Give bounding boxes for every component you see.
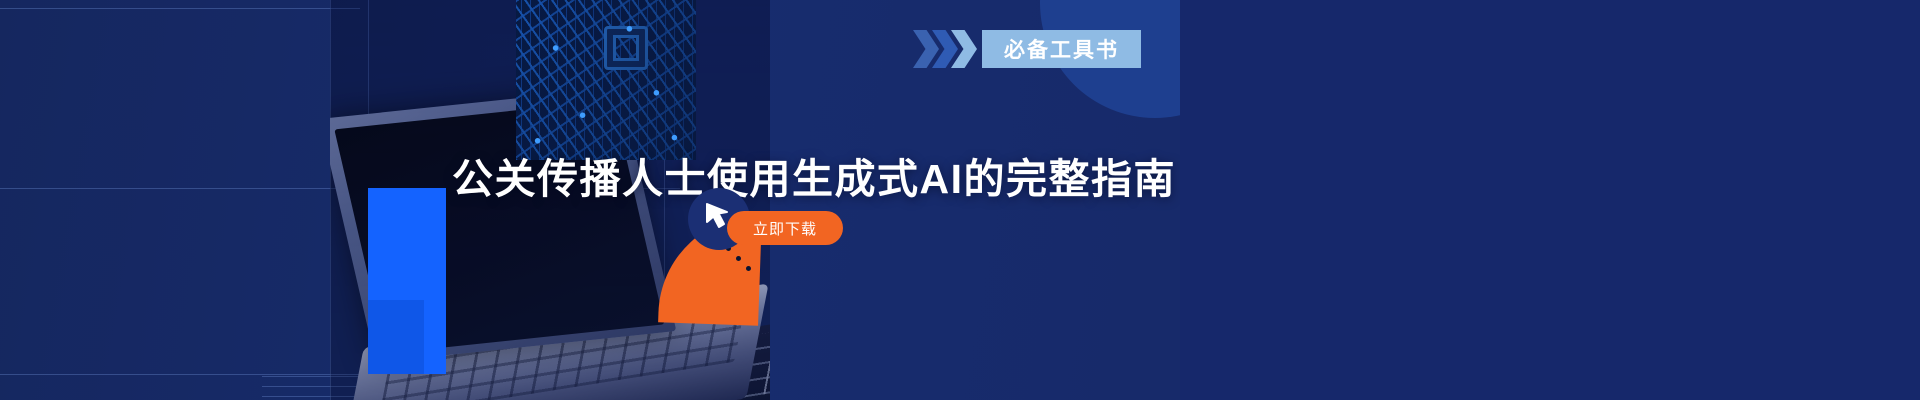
circuit-chip-icon <box>604 26 648 70</box>
promo-banner: 必备工具书 公关传播人士使用生成式AI的完整指南 立即下载 <box>0 0 1920 400</box>
badge-label: 必备工具书 <box>1004 34 1119 64</box>
circuit-board-texture <box>516 0 696 160</box>
grid-line-h <box>0 8 360 9</box>
chevron-icon <box>913 30 939 68</box>
badge-band: 必备工具书 <box>982 30 1141 68</box>
download-button-label: 立即下载 <box>753 218 817 239</box>
badge: 必备工具书 <box>913 30 1141 68</box>
right-background-fill <box>1180 0 1920 400</box>
page-title: 公关传播人士使用生成式AI的完整指南 <box>452 145 1176 205</box>
download-button[interactable]: 立即下载 <box>727 211 843 245</box>
bright-blue-rectangle-shade <box>368 300 424 374</box>
